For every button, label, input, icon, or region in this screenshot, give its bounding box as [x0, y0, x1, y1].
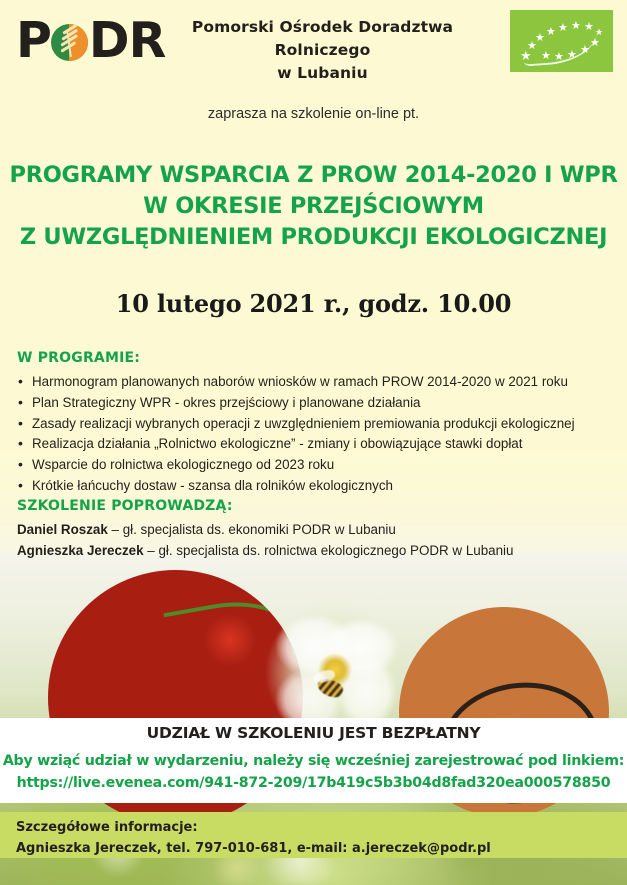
free-participation-notice: UDZIAŁ W SZKOLENIU JEST BEZPŁATNY — [0, 724, 627, 742]
organization-name: Pomorski Ośrodek Doradztwa Rolniczego w … — [150, 16, 495, 85]
event-date: 10 lutego 2021 r., godz. 10.00 — [0, 289, 627, 318]
poster-header: P DR Pomorski Ośrodek Doradztwa Rolnicze… — [0, 0, 627, 85]
list-item: Krótkie łańcuchy dostaw - szansa dla rol… — [17, 476, 612, 497]
invitation-line: zaprasza na szkolenie on-line pt. — [0, 106, 627, 122]
title-line-3: Z UWZGLĘDNIENIEM PRODUKCJI EKOLOGICZNEJ — [8, 222, 619, 253]
speaker-name: Daniel Roszak — [17, 522, 108, 537]
speaker-role: – gł. specjalista ds. rolnictwa ekologic… — [147, 543, 513, 558]
title-line-2: W OKRESIE PRZEJŚCIOWYM — [8, 191, 619, 222]
registration-info: Aby wziąć udział w wydarzeniu, należy si… — [0, 750, 627, 794]
title-line-1: PROGRAMY WSPARCIA Z PROW 2014-2020 I WPR — [8, 160, 619, 191]
program-list: Harmonogram planowanych naborów wniosków… — [17, 372, 612, 497]
list-item: Harmonogram planowanych naborów wniosków… — [17, 372, 612, 393]
registration-prompt: Aby wziąć udział w wydarzeniu, należy si… — [3, 753, 624, 769]
list-item: Wsparcie do rolnictwa ekologicznego od 2… — [17, 455, 612, 476]
organization-name-line1: Pomorski Ośrodek Doradztwa Rolniczego — [150, 16, 495, 62]
speaker-row: Agnieszka Jereczek – gł. specjalista ds.… — [17, 540, 612, 561]
speaker-role: – gł. specjalista ds. ekonomiki PODR w L… — [112, 522, 396, 537]
registration-link[interactable]: https://live.evenea.com/941-872-209/17b4… — [0, 772, 627, 794]
contact-heading: Szczegółowe informacje: — [16, 817, 491, 838]
training-poster: P DR Pomorski Ośrodek Doradztwa Rolnicze… — [0, 0, 627, 885]
organization-name-line2: w Lubaniu — [150, 62, 495, 85]
speaker-name: Agnieszka Jereczek — [17, 543, 144, 558]
contact-details: Agnieszka Jereczek, tel. 797-010-681, e-… — [16, 838, 491, 859]
program-section: W PROGRAMIE: Harmonogram planowanych nab… — [17, 350, 612, 497]
speakers-section: SZKOLENIE POPROWADZĄ: Daniel Roszak – gł… — [17, 498, 612, 561]
contact-info: Szczegółowe informacje: Agnieszka Jerecz… — [16, 817, 491, 859]
logo-letter-p: P — [16, 17, 51, 65]
list-item: Plan Strategiczny WPR - okres przejściow… — [17, 393, 612, 414]
speakers-heading: SZKOLENIE POPROWADZĄ: — [17, 498, 612, 514]
speaker-row: Daniel Roszak – gł. specjalista ds. ekon… — [17, 519, 612, 540]
eu-organic-leaf-icon: ★ ★ ★ ★ ★ ★ ★ ★ ★ ★ ★ ★ ★ — [510, 10, 613, 72]
list-item: Zasady realizacji wybranych operacji z u… — [17, 414, 612, 435]
list-item: Realizacja działania „Rolnictwo ekologic… — [17, 434, 612, 455]
podr-logo: P DR — [16, 14, 165, 68]
program-heading: W PROGRAMIE: — [17, 350, 612, 366]
page-title: PROGRAMY WSPARCIA Z PROW 2014-2020 I WPR… — [8, 160, 619, 253]
wheat-grain-icon — [51, 24, 88, 61]
